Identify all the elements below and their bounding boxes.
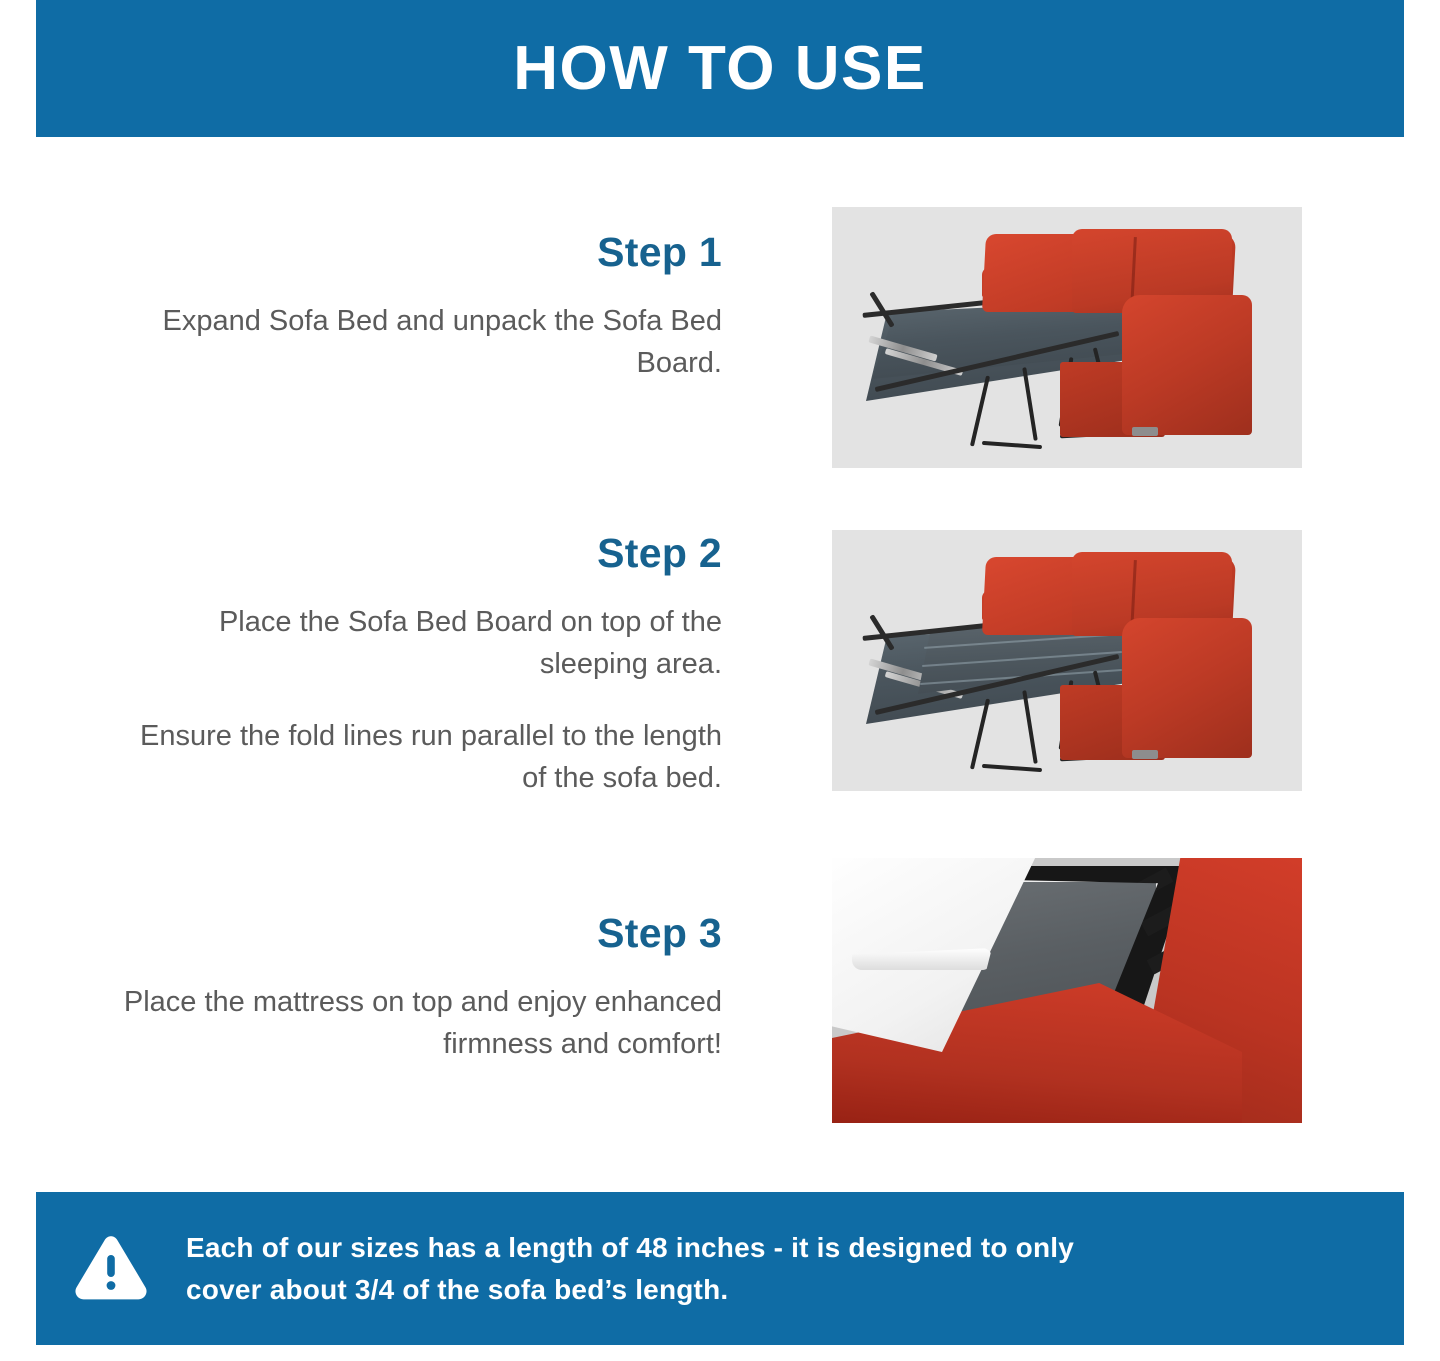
footer-note-line-2: cover about 3/4 of the sofa bed’s length…	[186, 1269, 1074, 1310]
sofa-foot	[1132, 427, 1158, 436]
step-1-heading: Step 1	[120, 229, 722, 276]
step-2-paragraph-1: Place the Sofa Bed Board on top of the s…	[120, 601, 722, 685]
step-1-photo	[832, 207, 1302, 468]
footer-note-text: Each of our sizes has a length of 48 inc…	[186, 1227, 1134, 1310]
sofa-arm-right	[1122, 618, 1252, 758]
step-3-photo	[832, 858, 1302, 1123]
how-to-use-infographic: HOW TO USE Step 1 Expand Sofa Bed and un…	[0, 0, 1440, 1361]
sofa-bed-with-board-illustration	[832, 530, 1302, 791]
step-row: Step 2 Place the Sofa Bed Board on top o…	[0, 530, 1440, 791]
mattress-on-board-closeup	[832, 858, 1302, 1123]
footer-note-line-1: Each of our sizes has a length of 48 inc…	[186, 1227, 1074, 1268]
step-3-heading: Step 3	[120, 910, 722, 957]
step-2-text-block: Step 2 Place the Sofa Bed Board on top o…	[120, 530, 722, 799]
step-2-paragraph-2: Ensure the fold lines run parallel to th…	[120, 715, 722, 799]
warning-triangle-icon	[74, 1235, 148, 1303]
bed-leg-crossbar	[982, 764, 1042, 772]
step-1-paragraph: Expand Sofa Bed and unpack the Sofa Bed …	[120, 300, 722, 384]
bed-leg	[970, 375, 990, 446]
step-row: Step 3 Place the mattress on top and enj…	[0, 858, 1440, 1123]
bed-leg	[1022, 690, 1038, 764]
bed-leg	[970, 698, 990, 769]
step-3-text-block: Step 3 Place the mattress on top and enj…	[120, 910, 722, 1065]
step-3-paragraph: Place the mattress on top and enjoy enha…	[120, 981, 722, 1065]
step-2-photo	[832, 530, 1302, 791]
sofa-bed-illustration	[832, 207, 1302, 468]
steps-section: Step 1 Expand Sofa Bed and unpack the So…	[0, 137, 1440, 1192]
page-title: HOW TO USE	[513, 38, 926, 100]
footer-note-banner: Each of our sizes has a length of 48 inc…	[36, 1192, 1404, 1345]
bed-leg	[1022, 367, 1038, 441]
step-2-heading: Step 2	[120, 530, 722, 577]
sofa-foot	[1132, 750, 1158, 759]
bed-leg-crossbar	[982, 441, 1042, 449]
step-1-text-block: Step 1 Expand Sofa Bed and unpack the So…	[120, 229, 722, 384]
sofa-arm-right	[1122, 295, 1252, 435]
step-row: Step 1 Expand Sofa Bed and unpack the So…	[0, 207, 1440, 468]
warning-icon-wrapper	[36, 1235, 186, 1303]
header-banner: HOW TO USE	[36, 0, 1404, 137]
